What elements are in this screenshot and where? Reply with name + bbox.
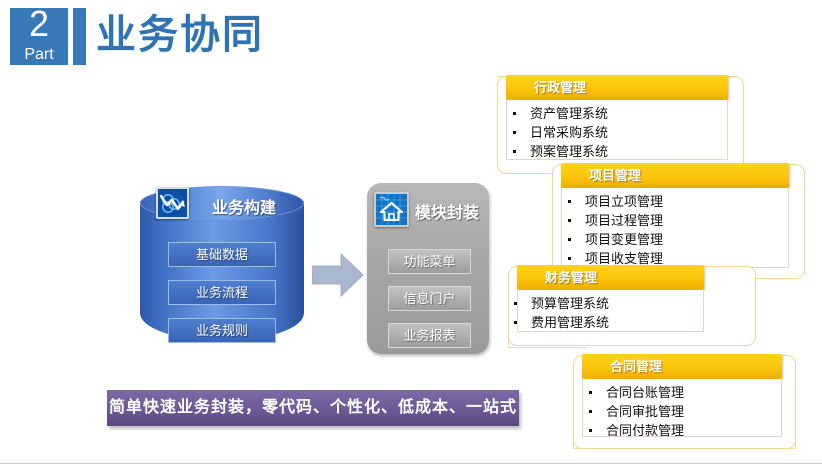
card-finance-list: 预算管理系统 费用管理系统 [509,294,609,332]
connector-finance-bottom [508,347,586,348]
list-item[interactable]: 日常采购系统 [530,123,608,142]
list-item[interactable]: 费用管理系统 [531,313,609,332]
slide-canvas: 2 Part 业务协同 [0,0,822,464]
card-finance[interactable]: 财务管理 预算管理系统 费用管理系统 [508,266,756,346]
business-build-item-2[interactable]: 业务规则 [168,318,276,343]
card-admin[interactable]: 行政管理 资产管理系统 日常采购系统 预案管理系统 [497,76,744,174]
list-item[interactable]: 合同付款管理 [606,421,684,440]
blueprint-house-icon [374,192,409,227]
list-item[interactable]: 项目过程管理 [585,211,663,230]
card-project-title: 项目管理 [561,163,789,188]
card-contract[interactable]: 合同管理 合同台账管理 合同审批管理 合同付款管理 [573,355,796,449]
business-build-cylinder[interactable]: 业务构建 基础数据 业务流程 业务规则 [140,186,304,352]
list-item[interactable]: 资产管理系统 [530,104,608,123]
analytics-chart-icon [156,187,189,219]
list-item[interactable]: 项目变更管理 [585,230,663,249]
card-contract-title: 合同管理 [582,354,782,379]
title-accent-bar [73,8,86,65]
card-admin-title: 行政管理 [506,75,728,100]
business-build-item-0[interactable]: 基础数据 [168,242,276,267]
business-build-item-1[interactable]: 业务流程 [168,280,276,305]
card-admin-list: 资产管理系统 日常采购系统 预案管理系统 [498,104,608,161]
part-word: Part [10,46,68,64]
list-item[interactable]: 合同审批管理 [606,402,684,421]
card-finance-title: 财务管理 [517,265,704,290]
page-title: 业务协同 [96,6,264,64]
module-package-panel[interactable]: 模块封装 功能菜单 信息门户 业务报表 [367,183,489,354]
module-package-item-0[interactable]: 功能菜单 [388,249,471,274]
list-item[interactable]: 预算管理系统 [531,294,609,313]
list-item[interactable]: 预案管理系统 [530,142,608,161]
tagline-banner: 简单快速业务封装，零代码、个性化、低成本、一站式 [107,390,519,426]
module-package-item-1[interactable]: 信息门户 [388,286,471,311]
part-number: 2 [10,2,68,46]
card-project[interactable]: 项目管理 项目立项管理 项目过程管理 项目变更管理 项目收支管理 [552,164,805,279]
card-contract-list: 合同台账管理 合同审批管理 合同付款管理 [574,383,684,440]
list-item[interactable]: 项目立项管理 [585,192,663,211]
module-package-label: 模块封装 [415,199,479,223]
module-package-item-2[interactable]: 业务报表 [388,323,471,348]
list-item[interactable]: 合同台账管理 [606,383,684,402]
card-project-list: 项目立项管理 项目过程管理 项目变更管理 项目收支管理 [553,192,663,268]
part-badge: 2 Part [10,8,68,65]
business-build-label: 业务构建 [212,194,276,218]
right-arrow-icon [312,252,364,298]
